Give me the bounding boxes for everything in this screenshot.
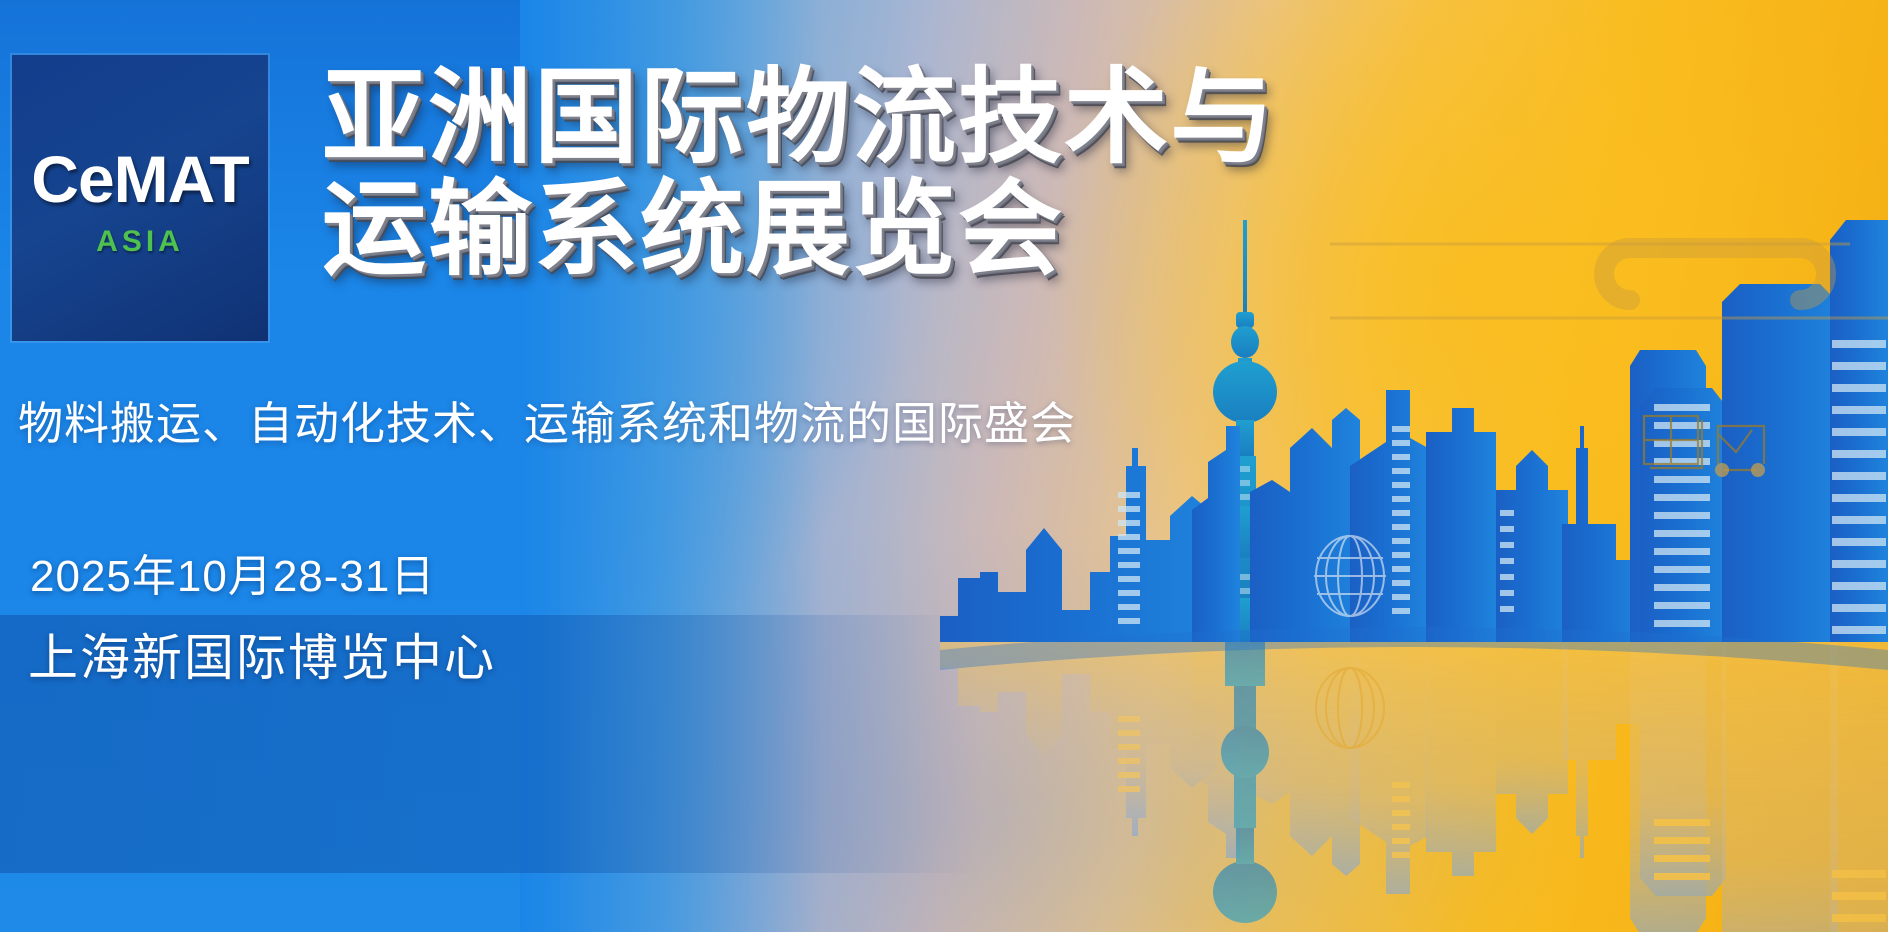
warehouse-icons-group [1640,408,1790,486]
event-date-text: 2025年10月28-31日 [30,549,435,605]
cloud-swirl-icon [1330,222,1888,342]
cemat-logo: CeMAT ASIA [12,55,268,341]
event-venue-text: 上海新国际博览中心 [28,627,496,689]
logo-region-text: ASIA [12,225,268,259]
cemat-asia-poster: CeMAT ASIA 亚洲国际物流技术与 运输系统展览会 物料搬运、自动化技术、… [0,0,1888,932]
subtitle-text: 物料搬运、自动化技术、运输系统和物流的国际盛会 [18,396,1076,452]
headline-block: 亚洲国际物流技术与 运输系统展览会 [322,62,1382,286]
headline-line-1: 亚洲国际物流技术与 [322,62,1382,174]
logo-brand-text: CeMAT [12,141,268,217]
headline-line-2: 运输系统展览会 [322,174,1382,286]
warehouse-rack-icon [1644,416,1702,468]
